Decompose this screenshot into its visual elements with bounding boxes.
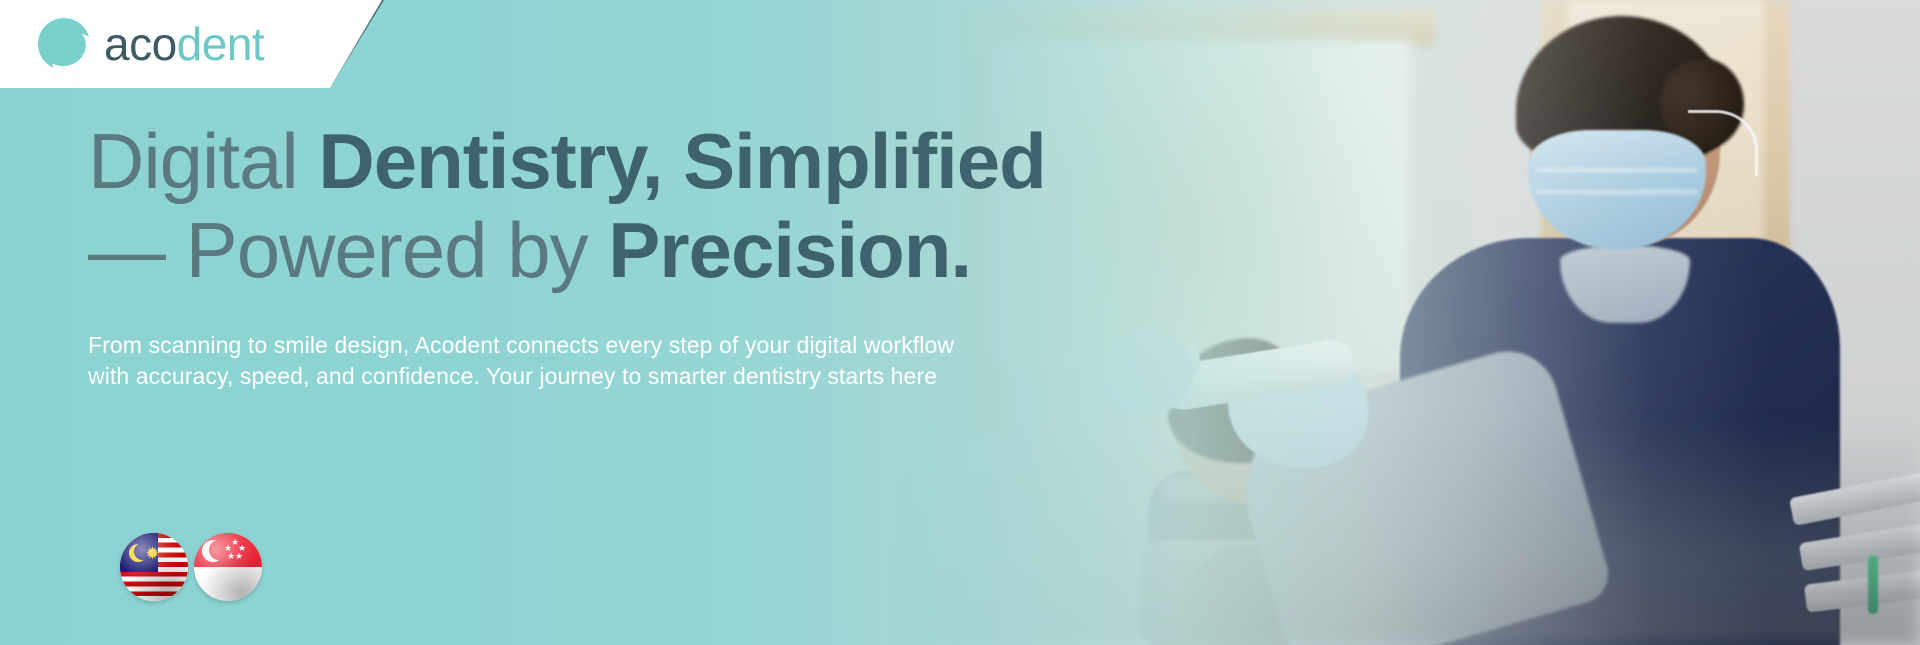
wordmark-aco: aco xyxy=(104,18,177,70)
malaysia-flag-icon[interactable]: ✹ xyxy=(120,533,188,601)
headline-line1-bold: Dentistry, Simplified xyxy=(318,117,1045,205)
sg-star: ★ xyxy=(235,552,243,561)
hero-subcopy: From scanning to smile design, Acodent c… xyxy=(88,330,1208,391)
subcopy-line-1: From scanning to smile design, Acodent c… xyxy=(88,330,1208,361)
hero-banner: acodent Digital Dentistry, Simplified — … xyxy=(0,0,1920,645)
acodent-wordmark: acodent xyxy=(104,21,264,67)
wordmark-dent: dent xyxy=(177,18,265,70)
sg-star: ★ xyxy=(227,552,235,561)
malaysia-star-glyph: ✹ xyxy=(145,546,160,561)
singapore-flag-icon[interactable]: ★ ★ ★ ★ ★ xyxy=(194,533,262,601)
acodent-circle-swoosh-icon xyxy=(38,18,90,70)
teal-gradient-overlay xyxy=(0,0,1920,645)
headline-line2-bold: Precision. xyxy=(608,206,971,294)
subcopy-line-2: with accuracy, speed, and confidence. Yo… xyxy=(88,361,1208,392)
logo-banner[interactable]: acodent xyxy=(0,0,382,88)
singapore-stars: ★ ★ ★ ★ ★ xyxy=(223,538,251,564)
headline-line1-light: Digital xyxy=(88,117,318,205)
headline-line2-light: — Powered by xyxy=(88,206,608,294)
hero-headline: Digital Dentistry, Simplified — Powered … xyxy=(88,120,1268,291)
country-flags: ✹ ★ ★ ★ ★ ★ xyxy=(120,533,262,601)
